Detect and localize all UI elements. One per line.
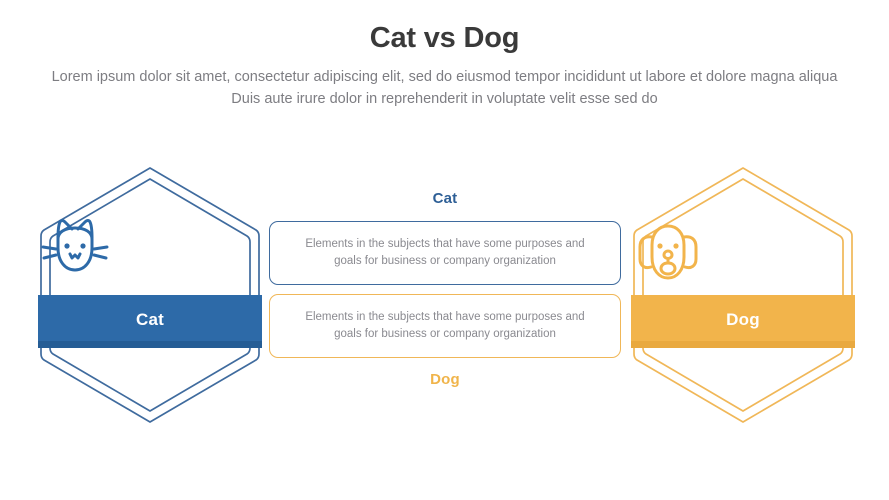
page-title: Cat vs Dog — [0, 22, 889, 55]
dog-band-shadow — [631, 341, 855, 348]
dog-description-box[interactable]: Elements in the subjects that have some … — [269, 294, 621, 358]
center-column: Cat Elements in the subjects that have s… — [269, 190, 621, 388]
dog-band: Dog — [631, 295, 855, 348]
dog-badge[interactable]: Dog — [631, 165, 855, 425]
cat-face-icon — [38, 217, 112, 283]
dog-face-icon — [631, 217, 705, 287]
cat-description-text: Elements in the subjects that have some … — [292, 236, 598, 271]
cat-band-label: Cat — [136, 310, 164, 330]
infographic-canvas: Cat vs Dog Lorem ipsum dolor sit amet, c… — [0, 0, 889, 500]
cat-badge[interactable]: Cat — [38, 165, 262, 425]
cat-caption: Cat — [269, 190, 621, 207]
dog-caption: Dog — [269, 371, 621, 388]
cat-band-shadow — [38, 341, 262, 348]
cat-description-box[interactable]: Elements in the subjects that have some … — [269, 221, 621, 285]
dog-description-text: Elements in the subjects that have some … — [292, 309, 598, 344]
cat-band: Cat — [38, 295, 262, 348]
page-subtitle: Lorem ipsum dolor sit amet, consectetur … — [45, 66, 845, 111]
dog-band-label: Dog — [726, 310, 760, 330]
